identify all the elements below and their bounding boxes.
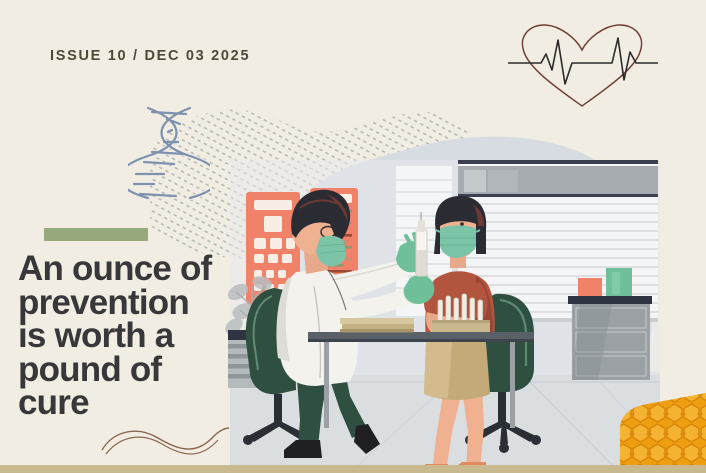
footer-band [0, 465, 706, 473]
wave-squiggle [100, 424, 230, 464]
honeycomb-texture [598, 383, 706, 473]
headline-line-3: is worth a [18, 319, 268, 353]
dna-helix-icon [128, 104, 210, 200]
headline-line-2: prevention [18, 286, 268, 320]
headline-line-4: pound of [18, 353, 268, 387]
books [340, 318, 414, 333]
headline-line-1: An ounce of [18, 252, 268, 286]
headline-line-5: cure [18, 386, 268, 420]
newsletter-poster: ISSUE 10 / DEC 03 2025 An ounce of preve… [0, 0, 706, 473]
page-title: An ounce of prevention is worth a pound … [18, 252, 268, 420]
green-accent-rule [44, 228, 148, 241]
issue-label: ISSUE 10 / DEC 03 2025 [50, 48, 250, 64]
heartbeat-heart-icon [508, 18, 658, 118]
